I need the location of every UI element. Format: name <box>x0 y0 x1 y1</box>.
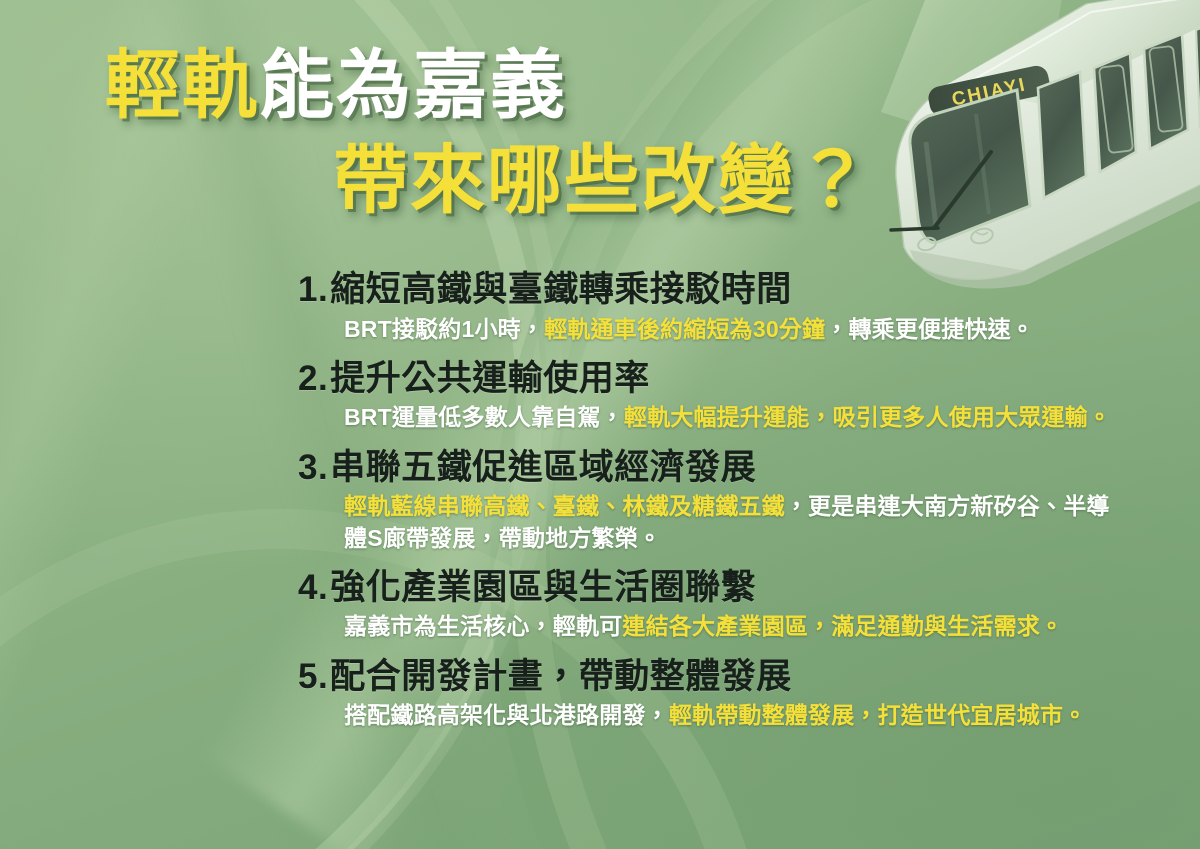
list-item-title: 串聯五鐵促進區域經濟發展 <box>330 448 756 489</box>
desc-part-highlight: 輕軌藍線串聯高鐵、臺鐵、林鐵及糖鐵五鐵 <box>344 493 785 519</box>
desc-part: 搭配鐵路高架化與北港路開發， <box>344 702 669 728</box>
list-item-heading: 5. 配合開發計畫，帶動整體發展 <box>298 657 1128 698</box>
list-item: 5. 配合開發計畫，帶動整體發展 搭配鐵路高架化與北港路開發，輕軌帶動整體發展，… <box>298 657 1128 732</box>
desc-part: BRT運量低多數人靠自駕， <box>344 404 624 430</box>
list-item-description: 嘉義市為生活核心，輕軌可連結各大產業園區，滿足通勤與生活需求。 <box>298 611 1128 642</box>
list-item-heading: 4. 強化產業園區與生活圈聯繫 <box>298 568 1128 609</box>
title-line-2: 帶來哪些改變？ <box>0 143 900 218</box>
list-item-description: 搭配鐵路高架化與北港路開發，輕軌帶動整體發展，打造世代宜居城市。 <box>298 700 1128 731</box>
poster-title: 輕軌能為嘉義 帶來哪些改變？ <box>0 48 900 218</box>
list-item-number: 3. <box>298 448 328 489</box>
desc-part: 嘉義市為生活核心，輕軌可 <box>344 613 622 639</box>
list-item-heading: 3. 串聯五鐵促進區域經濟發展 <box>298 448 1128 489</box>
title-line-1: 輕軌能為嘉義 <box>0 48 900 123</box>
infographic-poster: CHIAYI 輕軌能為嘉義 帶來哪些改變？ 1. 縮短高鐵與臺鐵轉 <box>0 0 1200 849</box>
list-item: 4. 強化產業園區與生活圈聯繫 嘉義市為生活核心，輕軌可連結各大產業園區，滿足通… <box>298 568 1128 643</box>
desc-part-highlight: 輕軌通車後約縮短為30分鐘 <box>544 316 825 342</box>
list-item-heading: 1. 縮短高鐵與臺鐵轉乘接駁時間 <box>298 270 1128 311</box>
title-line-1-rest: 能為嘉義 <box>259 43 567 127</box>
list-item-number: 1. <box>298 270 328 311</box>
list-item-description: 輕軌藍線串聯高鐵、臺鐵、林鐵及糖鐵五鐵，更是串連大南方新矽谷、半導體S廊帶發展，… <box>298 491 1128 554</box>
list-item-title: 縮短高鐵與臺鐵轉乘接駁時間 <box>330 270 792 311</box>
desc-part: ，轉乘更便捷快速。 <box>825 316 1034 342</box>
desc-part-highlight: 輕軌大幅提升運能，吸引更多人使用大眾運輸。 <box>624 404 1111 430</box>
benefits-list: 1. 縮短高鐵與臺鐵轉乘接駁時間 BRT接駁約1小時，輕軌通車後約縮短為30分鐘… <box>298 270 1128 734</box>
list-item-title: 配合開發計畫，帶動整體發展 <box>330 657 792 698</box>
list-item-number: 5. <box>298 657 328 698</box>
desc-part-highlight: 輕軌帶動整體發展，打造世代宜居城市。 <box>669 702 1087 728</box>
list-item-description: BRT運量低多數人靠自駕，輕軌大幅提升運能，吸引更多人使用大眾運輸。 <box>298 402 1128 433</box>
title-highlight: 輕軌 <box>105 43 259 127</box>
desc-part-highlight: 連結各大產業園區，滿足通勤與生活需求。 <box>622 613 1063 639</box>
list-item-number: 2. <box>298 359 328 400</box>
list-item-heading: 2. 提升公共運輸使用率 <box>298 359 1128 400</box>
list-item: 3. 串聯五鐵促進區域經濟發展 輕軌藍線串聯高鐵、臺鐵、林鐵及糖鐵五鐵，更是串連… <box>298 448 1128 554</box>
list-item: 2. 提升公共運輸使用率 BRT運量低多數人靠自駕，輕軌大幅提升運能，吸引更多人… <box>298 359 1128 434</box>
list-item: 1. 縮短高鐵與臺鐵轉乘接駁時間 BRT接駁約1小時，輕軌通車後約縮短為30分鐘… <box>298 270 1128 345</box>
list-item-title: 強化產業園區與生活圈聯繫 <box>330 568 756 609</box>
desc-part: BRT接駁約1小時， <box>344 316 544 342</box>
list-item-title: 提升公共運輸使用率 <box>330 359 650 400</box>
list-item-description: BRT接駁約1小時，輕軌通車後約縮短為30分鐘，轉乘更便捷快速。 <box>298 314 1128 345</box>
train-destination-sign: CHIAYI <box>950 74 1029 110</box>
list-item-number: 4. <box>298 568 328 609</box>
